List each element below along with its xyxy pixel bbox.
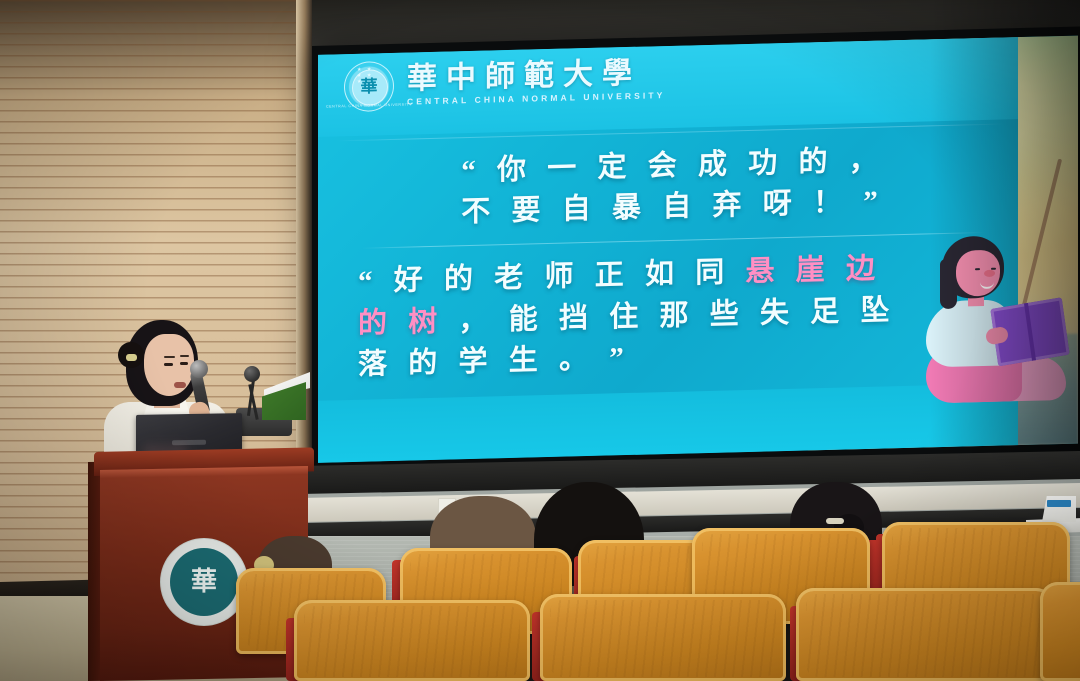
quote-two-highlight-b: 的 树 [358, 305, 444, 339]
presenter-eye [164, 363, 173, 366]
seat-grain [806, 594, 1044, 677]
seat-rim [1040, 582, 1080, 681]
quote-two: “ 好 的 老 师 正 如 同 悬 崖 边 的 树 ， 能 挡 住 那 些 失 … [358, 246, 988, 385]
microphone-head-icon [190, 360, 208, 378]
university-crest-icon: ★ ★ ★ ★ ★ 華 CENTRAL CHINA NORMAL UNIVERS… [344, 61, 394, 112]
presenter-eyebrow [180, 355, 189, 357]
crest-arc-text: CENTRAL CHINA NORMAL UNIVERSITY [326, 102, 412, 108]
auditorium-seat[interactable] [1040, 582, 1080, 681]
quote-two-line-1-plain: “ 好 的 老 师 正 如 同 [358, 256, 746, 298]
hair-pin-icon [826, 518, 844, 524]
slide-quote-block: “ 你 一 定 会 成 功 的 ， 不 要 自 暴 自 弃 呀 ！ ” “ 好 … [358, 138, 988, 386]
hair-clip-icon [126, 354, 137, 361]
presenter-eye [180, 362, 188, 365]
slide-header: ★ ★ ★ ★ ★ 華 CENTRAL CHINA NORMAL UNIVERS… [344, 54, 665, 112]
lecture-hall-photo: ★ ★ ★ ★ ★ 華 CENTRAL CHINA NORMAL UNIVERS… [0, 0, 1080, 681]
right-wall-shadow [930, 0, 1080, 500]
quote-divider [362, 232, 984, 249]
auditorium-seat[interactable] [796, 588, 1054, 681]
quote-one: “ 你 一 定 会 成 功 的 ， 不 要 自 暴 自 弃 呀 ！ ” [358, 138, 988, 236]
auditorium-seat[interactable] [294, 600, 530, 681]
university-name-cn: 華中師範大學 [407, 58, 665, 95]
crest-glyph: 華 [361, 78, 378, 95]
podium-university-emblem-icon: 華 [160, 538, 248, 626]
quote-two-line-2-plain: ， 能 挡 住 那 些 失 足 坠 [444, 294, 896, 337]
quote-two-highlight-a: 悬 崖 边 [746, 253, 883, 288]
university-name-block: 華中師範大學 CENTRAL CHINA NORMAL UNIVERSITY [407, 58, 665, 106]
seat-grain [550, 600, 776, 677]
laptop-brand-mark [172, 440, 206, 446]
auditorium-seat[interactable] [540, 594, 786, 681]
presenter-mouth [174, 382, 186, 388]
emblem-glyph: 華 [191, 569, 217, 595]
name-card-label [1047, 500, 1071, 507]
presenter-eyebrow [164, 356, 175, 358]
seat-grain [304, 606, 520, 677]
